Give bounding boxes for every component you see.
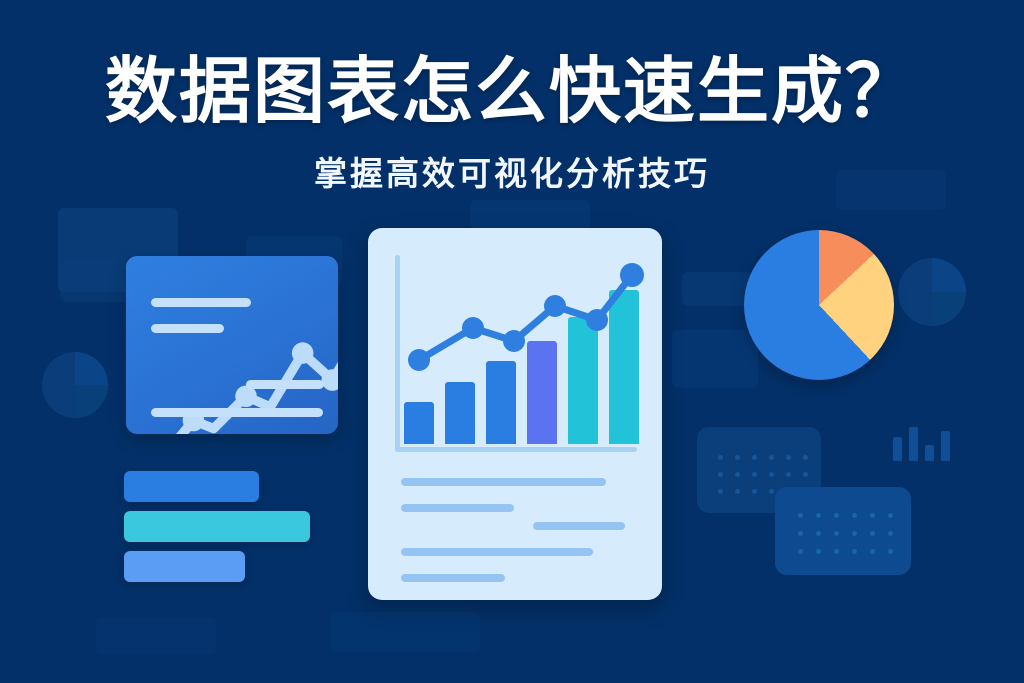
pie-chart[interactable]: [744, 230, 894, 380]
decor-dot-grid-front: [798, 513, 906, 567]
main-combo-chart-line: [368, 228, 662, 468]
report-document-card[interactable]: [368, 228, 662, 600]
decor-rect-bottom-center: [330, 612, 480, 652]
decor-pie-left-icon: [42, 352, 108, 418]
horizontal-bar-2: [124, 511, 310, 542]
decor-rect-center-top: [470, 200, 590, 230]
panel-text-line: [246, 380, 324, 389]
decor-rect-behind-card-upper: [682, 272, 752, 306]
document-text-line: [533, 522, 625, 530]
page-subtitle: 掌握高效可视化分析技巧: [0, 147, 1024, 195]
panel-text-line: [151, 298, 251, 307]
document-text-line: [401, 548, 593, 556]
horizontal-bar-3: [124, 551, 245, 582]
document-text-line: [401, 504, 514, 512]
line-chart-panel[interactable]: [126, 256, 338, 434]
poster-canvas: 数据图表怎么快速生成？ 掌握高效可视化分析技巧: [0, 0, 1024, 683]
decor-rect-bottom-left: [96, 618, 216, 654]
decor-pie-right-icon: [898, 258, 966, 326]
decor-rect-behind-card-lower: [672, 330, 758, 388]
horizontal-bar-1: [124, 471, 259, 502]
headline-block: 数据图表怎么快速生成？ 掌握高效可视化分析技巧: [0, 52, 1024, 195]
document-text-line: [401, 478, 606, 486]
document-text-line: [401, 574, 505, 582]
page-title: 数据图表怎么快速生成？: [0, 52, 1024, 133]
decor-rect-upper-left-small: [60, 260, 130, 302]
panel-text-line: [151, 408, 323, 417]
panel-text-line: [151, 324, 224, 333]
